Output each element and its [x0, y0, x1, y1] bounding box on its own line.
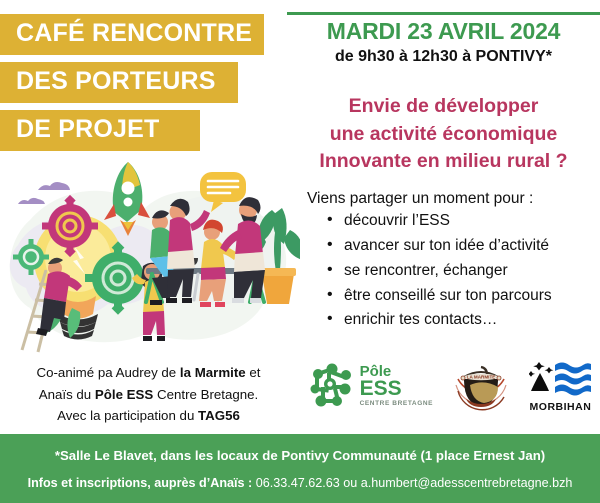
headline-line-1: Envie de développer	[287, 93, 600, 121]
credits-1b: la Marmite	[180, 365, 246, 380]
logo-pole-ess: Pôle ESS CENTRE BRETAGNE	[309, 363, 434, 409]
footer-sep: ou	[340, 476, 361, 490]
logo-morbihan: MORBIHAN	[529, 359, 591, 413]
morbihan-emblem-icon	[529, 359, 591, 399]
footer-contact: Infos et inscriptions, auprès d’Anaïs : …	[0, 476, 600, 490]
pole-ess-network-icon	[309, 363, 355, 409]
credits-line-1: Co-animé pa Audrey de la Marmite et	[6, 362, 291, 384]
footer-banner: *Salle Le Blavet, dans les locaux de Pon…	[0, 434, 600, 503]
footer-email[interactable]: a.humbert@adesscentrebretagne.bzh	[361, 476, 573, 490]
footer-venue: *Salle Le Blavet, dans les locaux de Pon…	[0, 448, 600, 463]
credits-3b: TAG56	[198, 408, 240, 423]
list-item: enrichir tes contacts…	[344, 311, 552, 328]
poster: CAFÉ RENCONTRE DES PORTEURS DE PROJET MA…	[0, 0, 600, 503]
title-line-1: CAFÉ RENCONTRE	[0, 14, 264, 55]
list-item: avancer sur ton idée d’activité	[344, 237, 552, 254]
credits-1c: et	[246, 365, 261, 380]
headline-line-3: Innovante en milieu rural ?	[287, 148, 600, 176]
bullets-intro: Viens partager un moment pour :	[307, 190, 533, 208]
credits-line-3: Avec la participation du TAG56	[6, 405, 291, 427]
marmite-label: LA MARMITE	[467, 375, 496, 380]
headline-line-2: une activité économique	[287, 121, 600, 149]
credits-2a: Anaïs du	[39, 387, 95, 402]
top-divider	[287, 12, 600, 15]
credits-text: Co-animé pa Audrey de la Marmite et Anaï…	[6, 362, 291, 427]
wave-lines	[555, 363, 591, 396]
ermine-tail	[531, 373, 549, 391]
pole-ess-line-2: ESS	[360, 378, 434, 399]
event-date: MARDI 23 AVRIL 2024	[287, 18, 600, 45]
list-item: découvrir l’ESS	[344, 212, 552, 229]
event-time-place: de 9h30 à 12h30 à PONTIVY*	[287, 48, 600, 66]
ermine-spots	[529, 362, 553, 377]
title-line-2: DES PORTEURS	[0, 62, 238, 103]
footer-phone[interactable]: 06.33.47.62.63	[256, 476, 340, 490]
title-line-3: DE PROJET	[0, 110, 200, 151]
credits-2b: Pôle ESS	[95, 387, 153, 402]
credits-2c: Centre Bretagne.	[153, 387, 258, 402]
footer-contact-label: Infos et inscriptions, auprès d’Anaïs :	[28, 476, 253, 490]
credits-line-2: Anaïs du Pôle ESS Centre Bretagne.	[6, 384, 291, 406]
marmite-pot-icon: LA MARMITE	[450, 355, 512, 417]
credits-3a: Avec la participation du	[57, 408, 198, 423]
logo-la-marmite: LA MARMITE	[450, 355, 512, 417]
headline: Envie de développer une activité économi…	[287, 93, 600, 176]
partner-logos: Pôle ESS CENTRE BRETAGNE LA MARMITE	[300, 350, 600, 422]
credits-1a: Co-animé pa Audrey de	[37, 365, 180, 380]
pole-ess-line-3: CENTRE BRETAGNE	[360, 401, 434, 408]
poster-title: CAFÉ RENCONTRE DES PORTEURS DE PROJET	[0, 14, 290, 158]
illustration	[0, 150, 300, 365]
list-item: se rencontrer, échanger	[344, 262, 552, 279]
list-item: être conseillé sur ton parcours	[344, 287, 552, 304]
pole-ess-wordmark: Pôle ESS CENTRE BRETAGNE	[360, 364, 434, 408]
benefits-list: découvrir l’ESS avancer sur ton idée d’a…	[322, 212, 552, 336]
morbihan-wordmark: MORBIHAN	[530, 401, 592, 413]
